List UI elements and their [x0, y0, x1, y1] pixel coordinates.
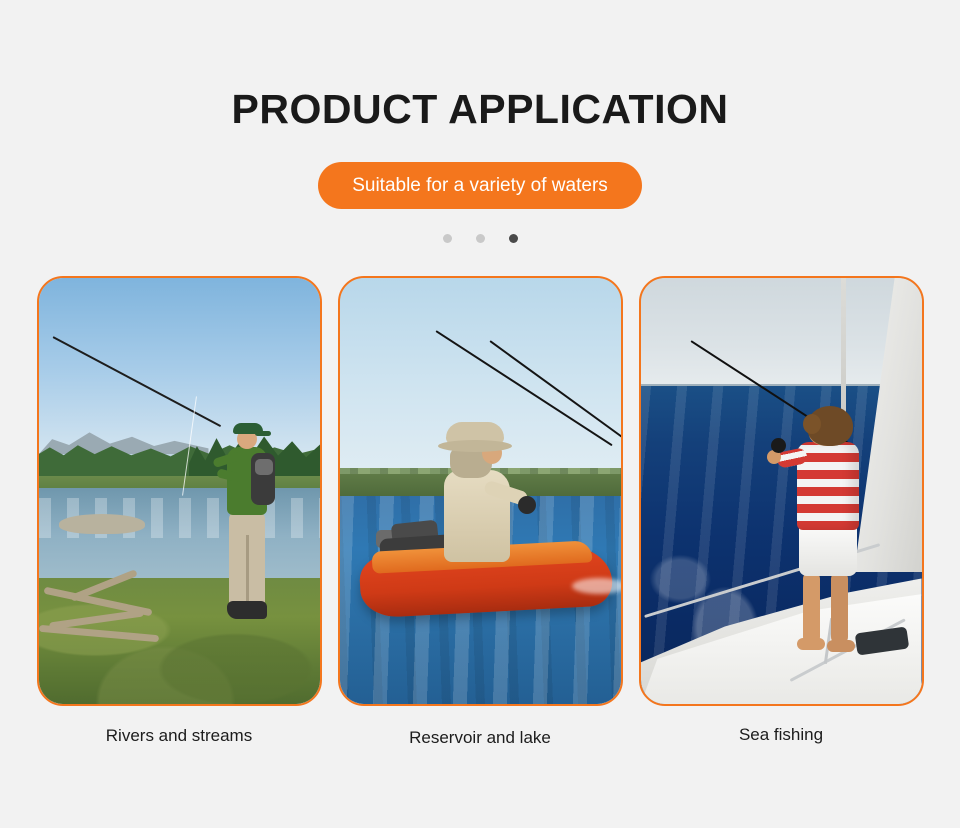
photo-reservoir-and-lake	[338, 276, 623, 706]
carousel-dots[interactable]	[0, 234, 960, 243]
river-rock	[59, 514, 145, 534]
subtitle-pill-container: Suitable for a variety of waters	[0, 162, 960, 209]
page-title: PRODUCT APPLICATION	[0, 27, 960, 130]
application-card-rivers[interactable]: Rivers and streams	[37, 276, 322, 748]
river-driftwood	[39, 568, 199, 658]
subtitle-pill: Suitable for a variety of waters	[318, 162, 642, 209]
product-application-section: PRODUCT APPLICATION Suitable for a varie…	[0, 27, 960, 828]
river-angler	[211, 415, 283, 635]
carousel-dot-2[interactable]	[476, 234, 485, 243]
lake-angler	[436, 418, 532, 578]
card-caption-sea: Sea fishing	[639, 725, 924, 745]
lake-reel	[518, 496, 536, 514]
application-card-list: Rivers and streams	[0, 276, 960, 748]
sea-sky	[641, 278, 922, 390]
card-caption-rivers: Rivers and streams	[37, 726, 322, 746]
photo-sea-fishing	[639, 276, 924, 706]
sea-angler-boy	[779, 406, 875, 661]
carousel-dot-1[interactable]	[443, 234, 452, 243]
photo-rivers-and-streams	[37, 276, 322, 706]
sea-reel	[771, 438, 786, 453]
carousel-dot-3[interactable]	[509, 234, 518, 243]
application-card-reservoir[interactable]: Reservoir and lake	[338, 276, 623, 748]
card-caption-reservoir: Reservoir and lake	[338, 728, 623, 748]
application-card-sea[interactable]: Sea fishing	[639, 276, 924, 748]
